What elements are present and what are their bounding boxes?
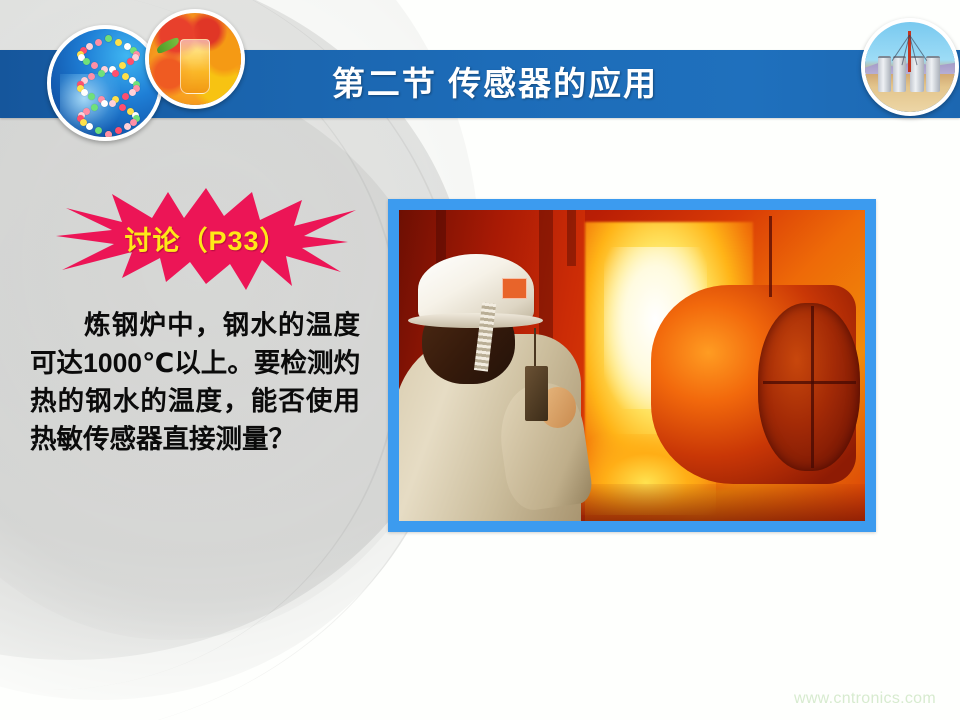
silo-1 (878, 56, 892, 92)
silo-4 (926, 56, 940, 92)
discussion-paragraph: 炼钢炉中，钢水的温度可达1000℃以上。要检测灼热的钢水的温度，能否使用热敏传感… (30, 306, 360, 458)
fruit-circle-icon (145, 9, 245, 109)
slide-canvas: 第二节 传感器的应用 讨论（P33） 炼钢炉中，钢水的温度可达1000℃以上。要… (0, 0, 960, 720)
discussion-callout-label: 讨论（P33） (56, 186, 356, 290)
site-watermark: www.cntronics.com (794, 690, 936, 708)
photo-ladle-cross-vertical (811, 306, 814, 468)
silo-circle-icon (861, 18, 959, 116)
photo-beam-3 (567, 210, 576, 266)
furnace-photo-frame (388, 199, 876, 532)
discussion-callout[interactable]: 讨论（P33） (56, 186, 356, 290)
worker-hard-hat-brim (408, 313, 543, 329)
furnace-photo (399, 210, 865, 521)
photo-ladle-cap (758, 303, 861, 471)
dna-helix-strands (51, 29, 159, 137)
photo-crane-hook (769, 216, 772, 297)
juice-glass (180, 39, 210, 94)
worker-hard-hat-tag (502, 278, 527, 299)
worker-radio (525, 366, 548, 422)
silo-2 (893, 56, 907, 92)
dna-circle-icon (47, 25, 163, 141)
photo-ladle-cross-horizontal (763, 381, 856, 384)
